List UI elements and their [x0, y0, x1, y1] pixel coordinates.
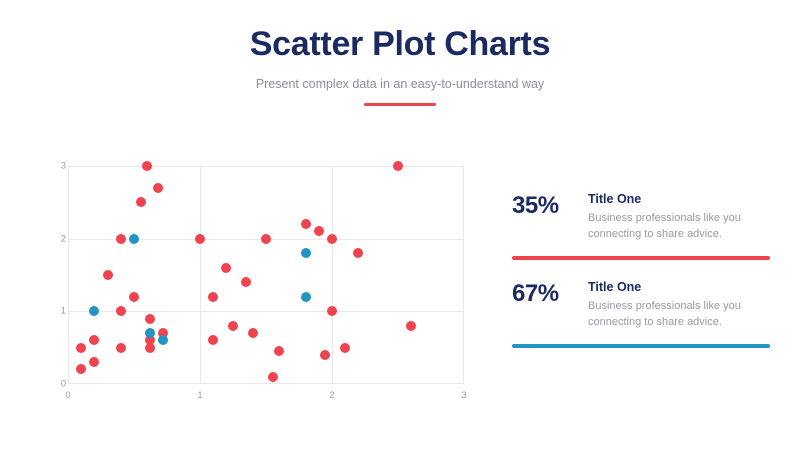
stat-accent-rule	[512, 344, 770, 348]
stat-accent-rule	[512, 256, 770, 260]
x-tick-label: 0	[65, 390, 70, 401]
data-point	[228, 321, 238, 331]
stat-value: 35%	[512, 192, 588, 220]
data-point	[116, 234, 126, 244]
data-point	[142, 161, 152, 171]
data-point	[268, 372, 278, 382]
data-point	[136, 197, 146, 207]
gridline-vertical	[200, 166, 201, 384]
data-point	[301, 219, 311, 229]
data-point	[393, 161, 403, 171]
data-point	[327, 234, 337, 244]
scatter-chart: 0123 0123	[42, 148, 482, 408]
stat-block-2: 67% Title One Business professionals lik…	[512, 280, 770, 348]
stat-title: Title One	[588, 280, 770, 294]
data-point	[76, 343, 86, 353]
data-point	[76, 364, 86, 374]
data-point	[221, 263, 231, 273]
data-point	[129, 292, 139, 302]
stat-title: Title One	[588, 192, 770, 206]
data-point	[301, 292, 311, 302]
gridline-vertical	[332, 166, 333, 384]
data-point	[145, 328, 155, 338]
y-tick-label: 0	[54, 379, 66, 390]
data-point	[261, 234, 271, 244]
data-point	[145, 314, 155, 324]
data-point	[129, 234, 139, 244]
gridline-horizontal	[68, 311, 464, 312]
stat-value: 67%	[512, 280, 588, 308]
data-point	[153, 183, 163, 193]
data-point	[116, 343, 126, 353]
page-subtitle: Present complex data in an easy-to-under…	[0, 77, 800, 91]
y-tick-label: 2	[54, 233, 66, 244]
data-point	[116, 306, 126, 316]
title-accent-rule	[364, 103, 436, 106]
plot-frame	[68, 166, 464, 384]
data-point	[340, 343, 350, 353]
data-point	[406, 321, 416, 331]
data-point	[274, 346, 284, 356]
data-point	[208, 335, 218, 345]
page-title: Scatter Plot Charts	[0, 26, 800, 63]
data-point	[241, 277, 251, 287]
data-point	[208, 292, 218, 302]
data-point	[314, 226, 324, 236]
stat-block-1: 35% Title One Business professionals lik…	[512, 192, 770, 260]
data-point	[248, 328, 258, 338]
data-point	[353, 248, 363, 258]
slide-header: Scatter Plot Charts Present complex data…	[0, 0, 800, 106]
x-tick-label: 1	[197, 390, 202, 401]
x-tick-label: 2	[329, 390, 334, 401]
data-point	[89, 335, 99, 345]
data-point	[103, 270, 113, 280]
plot-area: 0123 0123	[68, 166, 464, 384]
data-point	[327, 306, 337, 316]
stat-description: Business professionals like you connecti…	[588, 211, 770, 243]
y-tick-label: 1	[54, 306, 66, 317]
data-point	[301, 248, 311, 258]
stat-description: Business professionals like you connecti…	[588, 299, 770, 331]
stats-panel: 35% Title One Business professionals lik…	[512, 192, 770, 348]
data-point	[320, 350, 330, 360]
data-point	[158, 335, 168, 345]
y-tick-label: 3	[54, 161, 66, 172]
data-point	[195, 234, 205, 244]
data-point	[89, 357, 99, 367]
slide: Scatter Plot Charts Present complex data…	[0, 0, 800, 450]
data-point	[89, 306, 99, 316]
x-tick-label: 3	[461, 390, 466, 401]
